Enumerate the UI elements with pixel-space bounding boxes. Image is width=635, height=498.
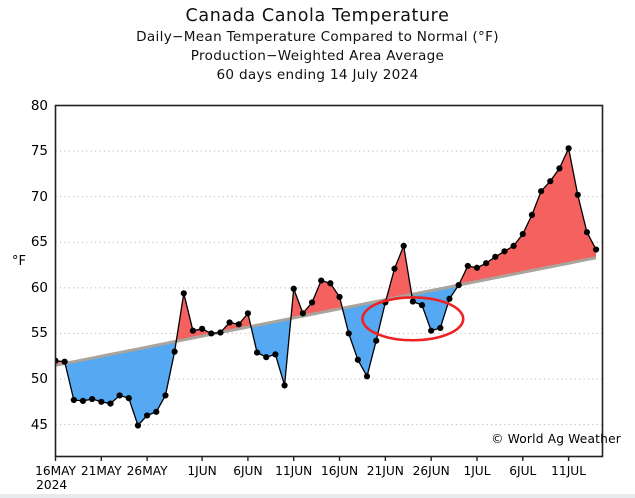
data-point-marker — [318, 277, 324, 283]
data-point-marker — [547, 178, 553, 184]
data-point-marker — [593, 246, 599, 252]
data-point-marker — [117, 392, 123, 398]
data-point-marker — [456, 282, 462, 288]
data-point-marker — [272, 351, 278, 357]
data-point-marker — [538, 188, 544, 194]
data-point-marker — [309, 299, 315, 305]
x-axis-year-label: 2024 — [36, 478, 76, 492]
credit-label: © World Ag Weather — [491, 432, 621, 446]
data-point-marker — [281, 382, 287, 388]
x-axis-tick-label: 1JUN — [187, 464, 216, 478]
x-axis-tick-label: 21JUN — [367, 464, 404, 478]
data-point-marker — [520, 231, 526, 237]
data-point-marker — [575, 192, 581, 198]
data-point-marker — [245, 310, 251, 316]
data-point-marker — [208, 330, 214, 336]
data-point-marker — [336, 294, 342, 300]
data-point-marker — [364, 373, 370, 379]
data-point-marker — [263, 354, 269, 360]
data-point-marker — [217, 329, 223, 335]
data-point-marker — [327, 280, 333, 286]
data-point-marker — [419, 302, 425, 308]
data-point-marker — [584, 229, 590, 235]
data-point-marker — [391, 266, 397, 272]
data-point-marker — [89, 396, 95, 402]
data-point-marker — [98, 399, 104, 405]
x-axis-tick-label: 26JUN — [413, 464, 450, 478]
data-point-marker — [501, 248, 507, 254]
data-point-marker — [62, 359, 68, 365]
x-axis-tick-label: 16JUN — [321, 464, 358, 478]
data-point-marker — [346, 330, 352, 336]
x-axis-tick-label: 1JUL — [463, 464, 490, 478]
data-point-marker — [410, 298, 416, 304]
data-point-marker — [291, 286, 297, 292]
data-point-marker — [437, 325, 443, 331]
data-point-marker — [428, 328, 434, 334]
data-point-marker — [401, 243, 407, 249]
data-point-marker — [144, 412, 150, 418]
data-point-marker — [172, 349, 178, 355]
data-point-marker — [511, 243, 517, 249]
data-point-marker — [492, 254, 498, 260]
normal-line — [56, 258, 597, 366]
data-point-marker — [181, 290, 187, 296]
data-point-marker — [373, 338, 379, 344]
data-point-marker — [71, 397, 77, 403]
data-point-marker — [474, 265, 480, 271]
data-point-marker — [153, 409, 159, 415]
x-axis-tick-label: 21MAY — [81, 464, 122, 478]
data-point-marker — [107, 401, 113, 407]
chart-plot — [0, 0, 635, 498]
data-point-marker — [226, 319, 232, 325]
x-axis-tick-label: 6JUN — [233, 464, 262, 478]
data-point-marker — [80, 398, 86, 404]
data-point-marker — [162, 392, 168, 398]
data-point-marker — [556, 165, 562, 171]
data-point-marker — [446, 296, 452, 302]
data-point-marker — [465, 263, 471, 269]
data-point-marker — [566, 145, 572, 151]
x-axis-tick-label: 16MAY2024 — [35, 464, 76, 492]
data-point-marker — [355, 357, 361, 363]
data-point-marker — [126, 395, 132, 401]
data-point-marker — [254, 349, 260, 355]
data-point-marker — [135, 422, 141, 428]
x-axis-tick-label: 11JUN — [275, 464, 312, 478]
x-axis-tick-label: 11JUL — [551, 464, 586, 478]
x-axis-tick-label: 26MAY — [127, 464, 168, 478]
data-point-marker — [199, 326, 205, 332]
data-point-marker — [236, 321, 242, 327]
data-point-marker — [529, 212, 535, 218]
chart-page: Canada Canola Temperature Daily−Mean Tem… — [0, 0, 635, 498]
data-point-marker — [483, 260, 489, 266]
data-point-marker — [300, 310, 306, 316]
x-axis-tick-label: 6JUL — [509, 464, 536, 478]
data-point-marker — [190, 328, 196, 334]
